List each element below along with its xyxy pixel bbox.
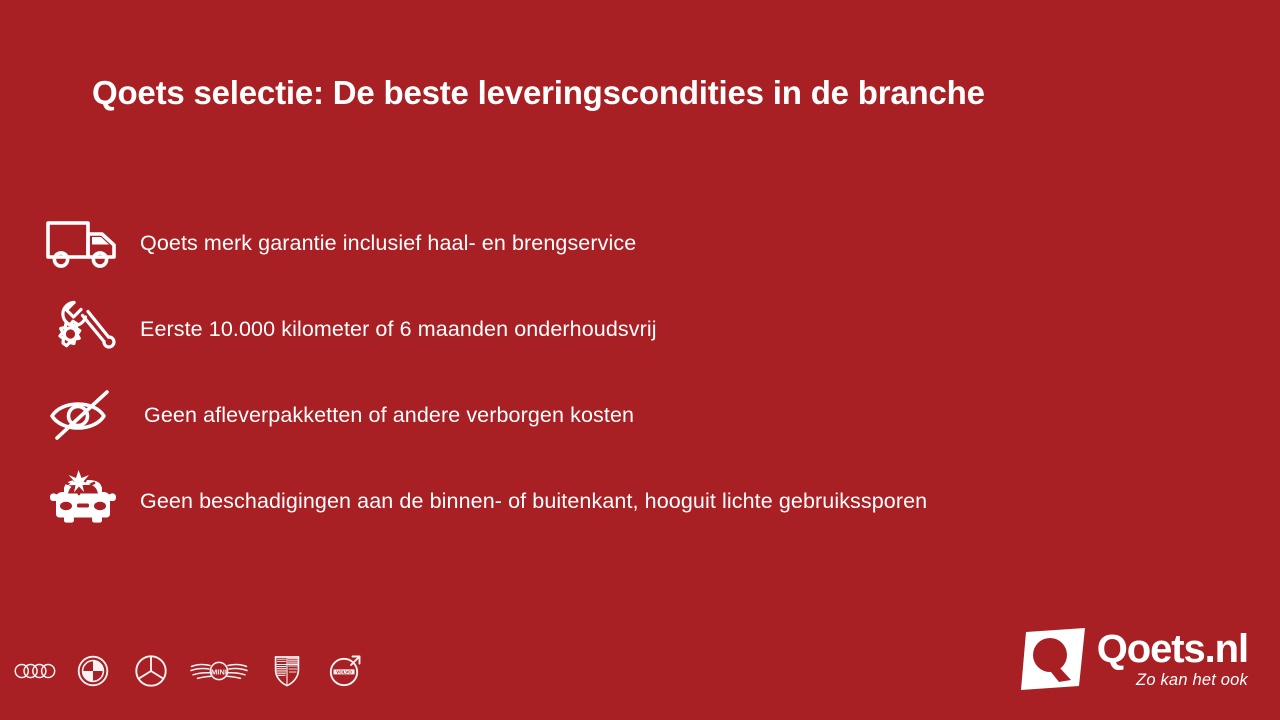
page-title: Qoets selectie: De beste leveringscondit… bbox=[92, 74, 985, 112]
feature-item-maintenance: Eerste 10.000 kilometer of 6 maanden ond… bbox=[40, 286, 1230, 372]
qoets-wordmark: Qoets.nl bbox=[1097, 629, 1248, 669]
feature-item-label: Geen beschadigingen aan de binnen- of bu… bbox=[140, 489, 927, 514]
audi-logo bbox=[14, 650, 56, 692]
mercedes-logo bbox=[130, 650, 172, 692]
feature-item-no-damage: Geen beschadigingen aan de binnen- of bu… bbox=[40, 458, 1230, 544]
feature-item-label: Geen afleverpakketten of andere verborge… bbox=[144, 403, 634, 428]
bmw-logo bbox=[72, 650, 114, 692]
slide-root: Qoets selectie: De beste leveringscondit… bbox=[0, 0, 1280, 720]
feature-item-no-hidden-costs: Geen afleverpakketten of andere verborge… bbox=[40, 372, 1230, 458]
feature-list: Qoets merk garantie inclusief haal- en b… bbox=[40, 200, 1230, 544]
brand-logo-strip: MINI bbox=[14, 650, 366, 692]
delivery-truck-icon bbox=[40, 208, 126, 278]
qoets-speech-bubble-mark bbox=[1019, 626, 1091, 694]
wrench-gear-icon bbox=[40, 294, 126, 364]
eye-slash-icon bbox=[40, 380, 126, 450]
svg-text:VOLVO: VOLVO bbox=[336, 670, 352, 675]
qoets-tagline: Zo kan het ook bbox=[1136, 672, 1248, 689]
feature-item-label: Eerste 10.000 kilometer of 6 maanden ond… bbox=[140, 317, 657, 342]
volvo-logo: VOLVO bbox=[324, 650, 366, 692]
mini-logo: MINI bbox=[188, 650, 250, 692]
damaged-car-icon bbox=[40, 466, 126, 536]
feature-item-delivery: Qoets merk garantie inclusief haal- en b… bbox=[40, 200, 1230, 286]
svg-text:MINI: MINI bbox=[211, 667, 227, 676]
qoets-wordmark-block: Qoets.nl Zo kan het ook bbox=[1097, 629, 1248, 691]
feature-item-label: Qoets merk garantie inclusief haal- en b… bbox=[140, 231, 636, 256]
porsche-logo bbox=[266, 650, 308, 692]
qoets-logo: Qoets.nl Zo kan het ook bbox=[1019, 626, 1248, 694]
